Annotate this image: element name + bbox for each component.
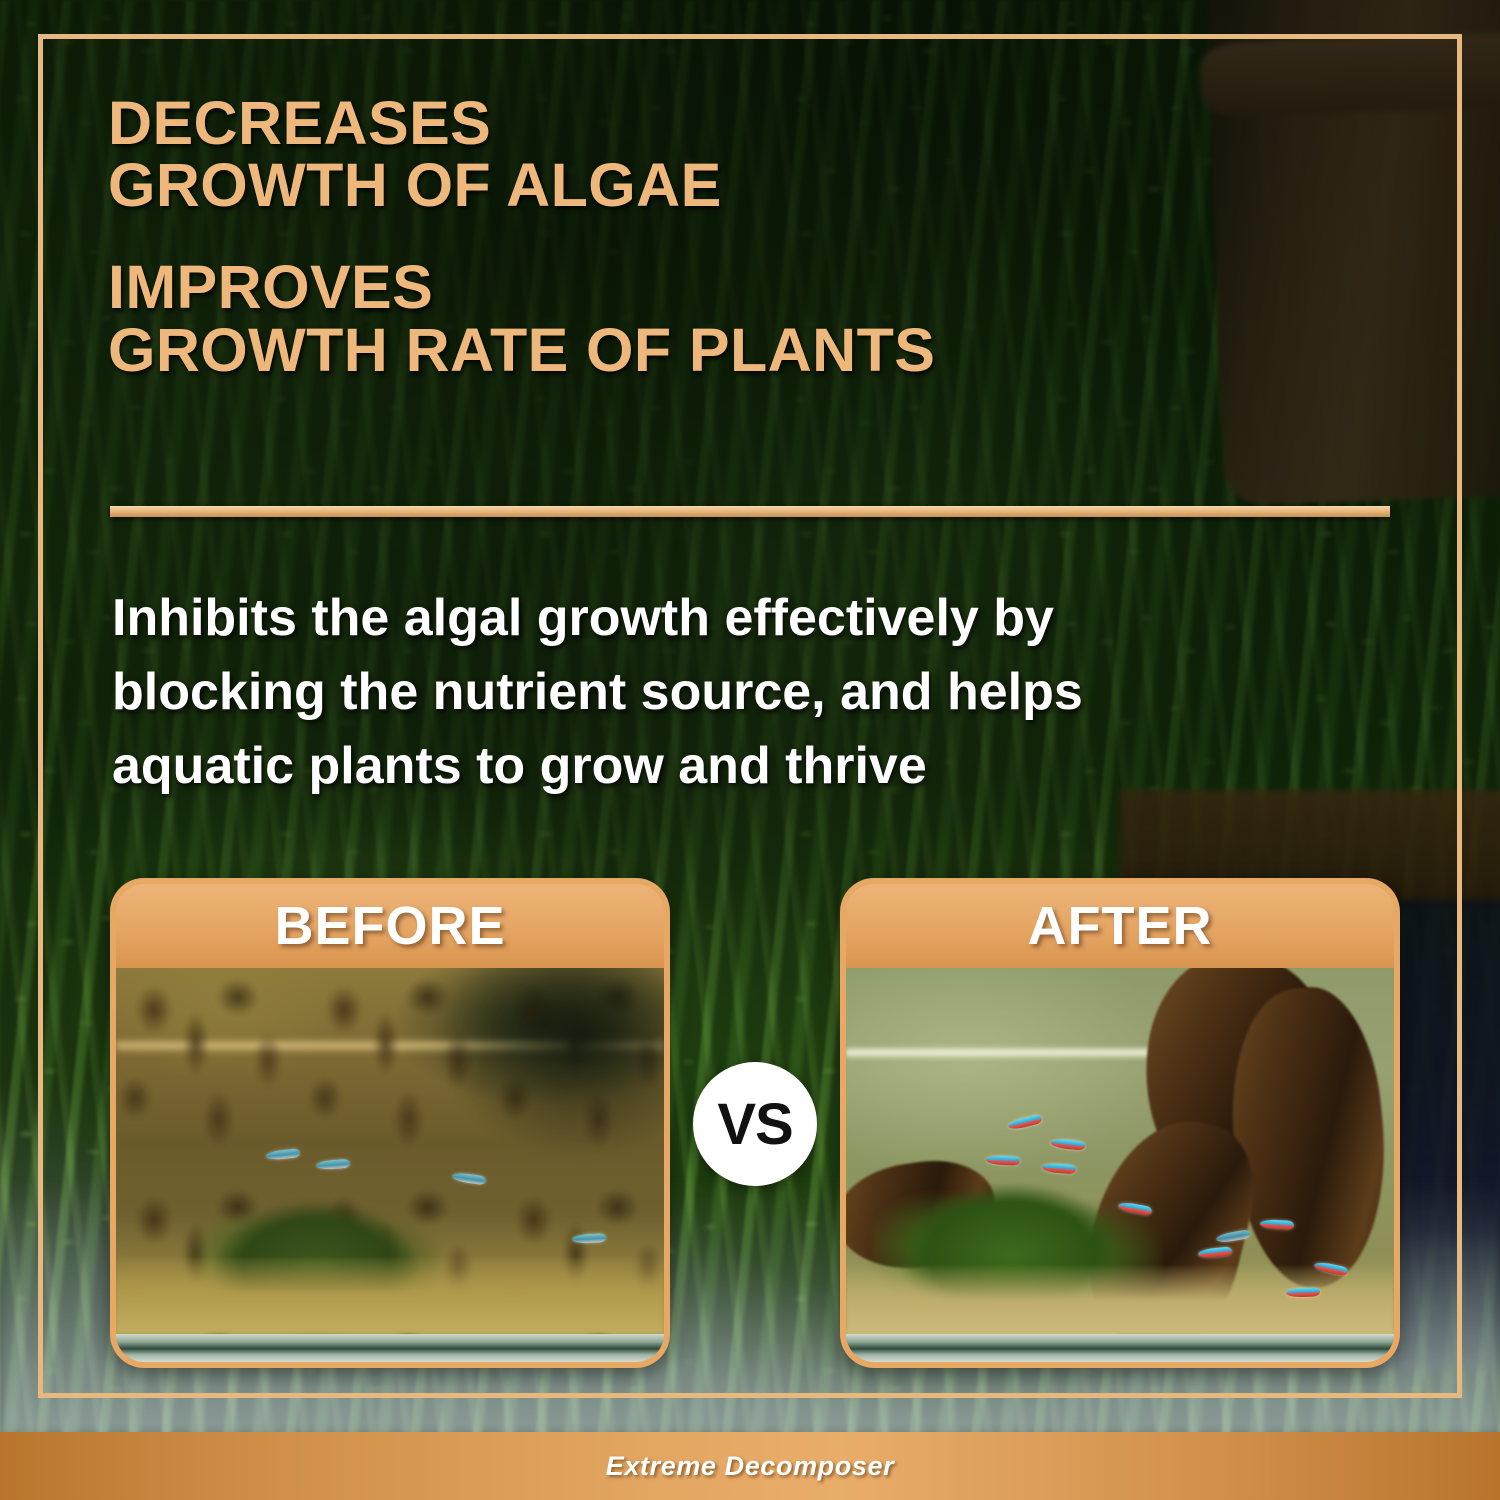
fish-after-9: [1286, 1287, 1320, 1297]
before-panel: BEFORE: [110, 878, 670, 1368]
after-aquarium-photo: [846, 968, 1394, 1362]
after-panel: AFTER: [840, 878, 1400, 1368]
after-panel-header: AFTER: [846, 884, 1394, 968]
footer-bar: Extreme Decomposer: [0, 1432, 1500, 1500]
section-divider: [110, 506, 1390, 517]
versus-badge: VS: [693, 1062, 817, 1186]
before-aquarium-photo: [116, 968, 664, 1362]
headline-improves-plant-growth: IMPROVES GROWTH RATE OF PLANTS: [108, 256, 1268, 380]
after-tank-glass-rim: [846, 1334, 1394, 1362]
product-name: Extreme Decomposer: [606, 1451, 894, 1482]
dark-algae-mass: [434, 968, 664, 1158]
after-label: AFTER: [1028, 895, 1213, 957]
before-panel-header: BEFORE: [116, 884, 664, 968]
headline-block: DECREASES GROWTH OF ALGAE IMPROVES GROWT…: [108, 92, 1268, 381]
body-description: Inhibits the algal growth effectively by…: [112, 582, 1352, 803]
versus-label: VS: [717, 1091, 792, 1158]
before-label: BEFORE: [274, 895, 505, 957]
after-substrate: [846, 1266, 1394, 1336]
before-substrate: [116, 1258, 664, 1334]
fish-after-1: [1007, 1114, 1042, 1131]
product-feature-card: DECREASES GROWTH OF ALGAE IMPROVES GROWT…: [0, 0, 1500, 1500]
fish-after-2: [1051, 1138, 1086, 1151]
before-tank-glass-rim: [116, 1334, 664, 1362]
headline-decreases-algae: DECREASES GROWTH OF ALGAE: [108, 92, 1268, 216]
